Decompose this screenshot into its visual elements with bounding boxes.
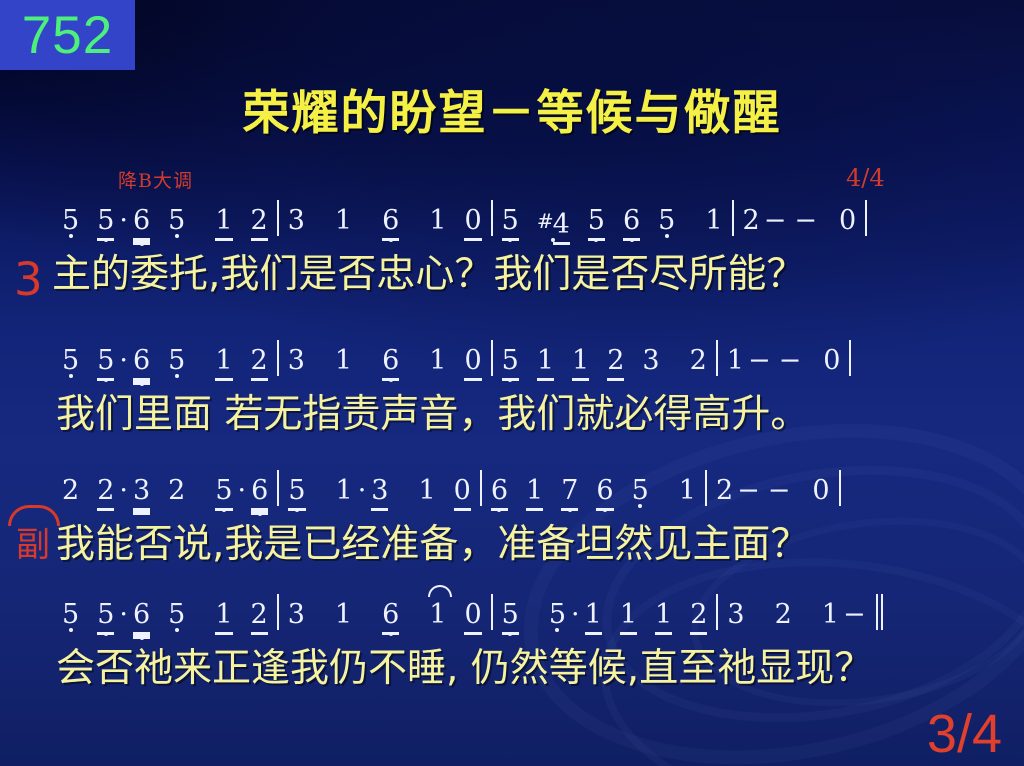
note-3: 3 <box>642 344 659 378</box>
note-digit: 1 <box>215 598 232 632</box>
note-1: 1 <box>620 598 637 632</box>
note-digit: 6 <box>133 598 150 632</box>
note-digit: 5 <box>658 204 675 238</box>
note-3: 3 <box>727 598 744 632</box>
note-digit: 1 <box>215 204 232 238</box>
note-digit: 2 <box>716 474 733 508</box>
note-5: 5 <box>658 204 675 238</box>
note-0: 0 <box>464 204 481 238</box>
duration-dash: − <box>744 344 775 378</box>
note-digit: 5 <box>288 474 305 508</box>
barline <box>491 594 493 630</box>
note-digit: 6 <box>251 474 268 508</box>
note-1: 1 <box>215 344 232 378</box>
note-7: 7 <box>561 474 578 508</box>
hymn-number: 752 <box>22 9 113 62</box>
note-digit: 1 <box>526 474 543 508</box>
barline <box>277 594 279 630</box>
octave-down-dot <box>594 238 598 242</box>
note-6: 6 <box>133 598 150 632</box>
sharp-icon: # <box>537 209 554 233</box>
note-digit: 0 <box>464 204 481 238</box>
octave-down-dot <box>497 508 501 512</box>
note-digit: 2 <box>743 204 760 238</box>
barline <box>716 594 718 630</box>
note-5: 5 <box>502 204 519 238</box>
octave-down-dot <box>508 238 512 242</box>
note-5: 5 <box>502 598 519 632</box>
note-3: 3 <box>288 344 305 378</box>
note-3: 3 <box>288 204 305 238</box>
fermata-icon <box>428 585 452 597</box>
note-1: 1 <box>429 204 446 238</box>
octave-down-dot <box>140 382 144 386</box>
note-1: 1 <box>336 474 353 508</box>
note-0: 0 <box>839 204 856 238</box>
music-system-4: 55·65123161055·1112321− 会否祂来正逢我仍不睡, 仍然等候… <box>0 598 1024 694</box>
note-3: 3 <box>288 598 305 632</box>
lyrics-row: 我能否说,我是已经准备，准备坦然见主面？ <box>0 520 1024 570</box>
note-0: 0 <box>464 598 481 632</box>
note-digit: 5 <box>62 598 79 632</box>
duration-dash: − <box>733 474 764 508</box>
note-1: 1 <box>335 344 352 378</box>
note-5: 5 <box>168 344 185 378</box>
octave-down-dot <box>69 234 73 238</box>
note-0: 0 <box>464 344 481 378</box>
duration-dash: − <box>839 598 870 632</box>
octave-down-dot <box>104 238 108 242</box>
octave-down-dot <box>258 512 262 516</box>
note-digit: 2 <box>690 344 707 378</box>
barline <box>491 200 493 236</box>
music-system-1: 55·6512316105#456512−−0 主的委托,我们是否忠心？我们是否… <box>0 204 1024 300</box>
note-5: 5 <box>288 474 305 508</box>
note-digit: 6 <box>623 204 640 238</box>
note-0: 0 <box>823 344 840 378</box>
note-1: 1 <box>215 204 232 238</box>
dotted-rhythm-dot: · <box>114 474 133 508</box>
note-1: 1 <box>335 204 352 238</box>
note-digit: 1 <box>429 204 446 238</box>
barline <box>849 340 851 376</box>
key-signature: 降B大调 <box>118 166 193 193</box>
note-digit: 1 <box>727 344 744 378</box>
barline <box>277 470 279 506</box>
dotted-rhythm-dot: · <box>566 598 585 632</box>
dotted-rhythm-dot: · <box>114 204 133 238</box>
note-digit: 5 <box>549 598 566 632</box>
note-digit: 0 <box>823 344 840 378</box>
note-2: 2 <box>607 344 624 378</box>
note-digit: 1 <box>537 344 554 378</box>
note-1: 1 <box>572 344 589 378</box>
barline <box>732 200 734 236</box>
note-digit: 1 <box>335 344 352 378</box>
octave-down-dot <box>389 632 393 636</box>
lyrics-row: 主的委托,我们是否忠心？我们是否尽所能？ <box>0 250 1024 300</box>
note-6: 6 <box>382 344 399 378</box>
octave-down-dot <box>389 378 393 382</box>
note-1: 1 <box>655 598 672 632</box>
octave-down-dot <box>69 374 73 378</box>
octave-down-dot <box>222 508 226 512</box>
note-6: 6 <box>251 474 268 508</box>
note-6: 6 <box>491 474 508 508</box>
duration-dash: − <box>760 204 791 238</box>
barline <box>705 470 707 506</box>
barline <box>480 470 482 506</box>
note-digit: 5 <box>62 344 79 378</box>
hymn-slide: 752 荣耀的盼望－等候与儆醒 降B大调 4/4 3 副 55·65123161… <box>0 0 1024 766</box>
note-1: 1 <box>727 344 744 378</box>
note-digit: 5 <box>502 344 519 378</box>
lyrics-row: 会否祂来正逢我仍不睡, 仍然等候,直至祂显现？ <box>0 644 1024 694</box>
note-digit: 4 <box>553 208 570 242</box>
note-digit: 0 <box>812 474 829 508</box>
note-5: 5 <box>549 598 566 632</box>
note-2: 2 <box>690 598 707 632</box>
note-digit: 5 <box>97 598 114 632</box>
note-2: 2 <box>743 204 760 238</box>
note-digit: 5 <box>215 474 232 508</box>
dotted-rhythm-dot: · <box>114 344 133 378</box>
note-digit: 1 <box>429 344 446 378</box>
dotted-rhythm-dot: · <box>114 598 133 632</box>
note-5: 5 <box>97 344 114 378</box>
note-digit: 3 <box>371 474 388 508</box>
note-digit: 1 <box>620 598 637 632</box>
note-digit: 5 <box>632 474 649 508</box>
notation-row: 55·6512316105112321−−0 <box>0 344 1024 390</box>
note-6: 6 <box>382 204 399 238</box>
octave-down-dot <box>295 508 299 512</box>
notation-row: 55·65123161055·1112321− <box>0 598 1024 644</box>
note-digit: 3 <box>642 344 659 378</box>
barline <box>277 340 279 376</box>
note-digit: 5 <box>97 204 114 238</box>
barline <box>716 340 718 376</box>
note-1: 1 <box>526 474 543 508</box>
note-2: 2 <box>775 598 792 632</box>
octave-down-dot <box>508 632 512 636</box>
hymn-number-badge: 752 <box>0 0 135 70</box>
note-6: 6 <box>133 344 150 378</box>
note-digit: 2 <box>607 344 624 378</box>
note-5: 5 <box>215 474 232 508</box>
note-5: 5 <box>62 204 79 238</box>
note-digit: 1 <box>215 344 232 378</box>
octave-down-dot <box>175 234 179 238</box>
time-signature: 4/4 <box>846 164 885 192</box>
barline <box>277 200 279 236</box>
octave-down-dot <box>568 508 572 512</box>
octave-down-dot <box>104 632 108 636</box>
duration-dash: − <box>764 474 795 508</box>
note-digit: 2 <box>251 204 268 238</box>
note-digit: 2 <box>62 474 79 508</box>
octave-down-dot <box>175 628 179 632</box>
note-digit: 6 <box>382 598 399 632</box>
note-5: 5 <box>97 204 114 238</box>
note-1: 1 <box>705 204 722 238</box>
note-5: 5 <box>632 474 649 508</box>
note-digit: 6 <box>491 474 508 508</box>
dotted-rhythm-dot: · <box>353 474 372 508</box>
note-digit: 0 <box>454 474 471 508</box>
octave-down-dot <box>140 242 144 246</box>
octave-down-dot <box>603 508 607 512</box>
octave-down-dot <box>508 378 512 382</box>
note-2: 2 <box>690 344 707 378</box>
note-5: 5 <box>588 204 605 238</box>
note-digit: 6 <box>133 204 150 238</box>
note-3: 3 <box>371 474 388 508</box>
duration-dash: − <box>790 204 821 238</box>
note-1: 1 <box>335 598 352 632</box>
octave-down-dot <box>665 234 669 238</box>
note-5: 5 <box>168 204 185 238</box>
octave-down-dot <box>140 636 144 640</box>
note-5: 5 <box>62 344 79 378</box>
note-1: 1 <box>429 598 446 632</box>
note-6: 6 <box>596 474 613 508</box>
note-digit: 1 <box>655 598 672 632</box>
octave-down-dot <box>389 238 393 242</box>
note-6: 6 <box>623 204 640 238</box>
note-5: 5 <box>62 598 79 632</box>
note-5: 5 <box>168 598 185 632</box>
octave-down-dot <box>104 378 108 382</box>
note-digit: 0 <box>464 344 481 378</box>
note-2: 2 <box>251 204 268 238</box>
note-2: 2 <box>251 598 268 632</box>
note-1: 1 <box>429 344 446 378</box>
note-digit: 3 <box>288 344 305 378</box>
note-digit: 2 <box>690 598 707 632</box>
note-digit: 2 <box>168 474 185 508</box>
note-digit: 5 <box>502 598 519 632</box>
note-0: 0 <box>812 474 829 508</box>
note-digit: 5 <box>168 344 185 378</box>
note-1: 1 <box>537 344 554 378</box>
note-6: 6 <box>133 204 150 238</box>
note-digit: 2 <box>775 598 792 632</box>
page-counter: 3/4 <box>927 704 1002 764</box>
note-digit: 2 <box>251 344 268 378</box>
note-2: 2 <box>251 344 268 378</box>
note-digit: 5 <box>502 204 519 238</box>
note-1: 1 <box>679 474 696 508</box>
note-6: 6 <box>382 598 399 632</box>
note-digit: 1 <box>705 204 722 238</box>
note-digit: 5 <box>588 204 605 238</box>
note-digit: 1 <box>822 598 839 632</box>
note-5: 5 <box>97 598 114 632</box>
note-digit: 3 <box>133 474 150 508</box>
note-2: 2 <box>62 474 79 508</box>
note-digit: 1 <box>335 204 352 238</box>
note-2: 2 <box>716 474 733 508</box>
barline <box>839 470 841 506</box>
note-digit: 5 <box>62 204 79 238</box>
note-digit: 6 <box>382 204 399 238</box>
note-digit: 0 <box>464 598 481 632</box>
notation-row: 55·6512316105#456512−−0 <box>0 204 1024 250</box>
note-digit: 5 <box>168 204 185 238</box>
music-system-2: 55·6512316105112321−−0 我们里面 若无指责声音，我们就必得… <box>0 344 1024 440</box>
note-digit: 2 <box>97 474 114 508</box>
note-digit: 6 <box>133 344 150 378</box>
note-digit: 3 <box>288 598 305 632</box>
note-digit: 1 <box>429 598 446 632</box>
notation-row: 22·325·651·3106176512−−0 <box>0 474 1024 520</box>
note-1: 1 <box>585 598 602 632</box>
note-1: 1 <box>822 598 839 632</box>
note-digit: 3 <box>288 204 305 238</box>
note-4: #4 <box>537 204 570 242</box>
music-system-3: 22·325·651·3106176512−−0 我能否说,我是已经准备，准备坦… <box>0 474 1024 570</box>
note-0: 0 <box>454 474 471 508</box>
note-1: 1 <box>418 474 435 508</box>
note-digit: 1 <box>585 598 602 632</box>
note-digit: 2 <box>251 598 268 632</box>
octave-down-dot <box>175 374 179 378</box>
note-digit: 1 <box>679 474 696 508</box>
note-digit: 6 <box>596 474 613 508</box>
duration-dash: − <box>775 344 806 378</box>
final-barline <box>876 594 886 639</box>
note-3: 3 <box>133 474 150 508</box>
note-digit: 3 <box>727 598 744 632</box>
lyrics-row: 我们里面 若无指责声音，我们就必得高升。 <box>0 390 1024 440</box>
note-digit: 5 <box>168 598 185 632</box>
note-2: 2 <box>97 474 114 508</box>
note-digit: 7 <box>561 474 578 508</box>
note-digit: 1 <box>335 598 352 632</box>
note-digit: 6 <box>382 344 399 378</box>
octave-down-dot <box>69 628 73 632</box>
note-digit: 1 <box>418 474 435 508</box>
note-1: 1 <box>215 598 232 632</box>
hymn-title: 荣耀的盼望－等候与儆醒 <box>0 74 1024 143</box>
note-digit: 1 <box>336 474 353 508</box>
note-digit: 5 <box>97 344 114 378</box>
note-digit: 1 <box>572 344 589 378</box>
barline <box>865 200 867 236</box>
note-5: 5 <box>502 344 519 378</box>
dotted-rhythm-dot: · <box>233 474 252 508</box>
octave-down-dot <box>630 238 634 242</box>
note-2: 2 <box>168 474 185 508</box>
note-digit: 0 <box>839 204 856 238</box>
barline <box>491 340 493 376</box>
